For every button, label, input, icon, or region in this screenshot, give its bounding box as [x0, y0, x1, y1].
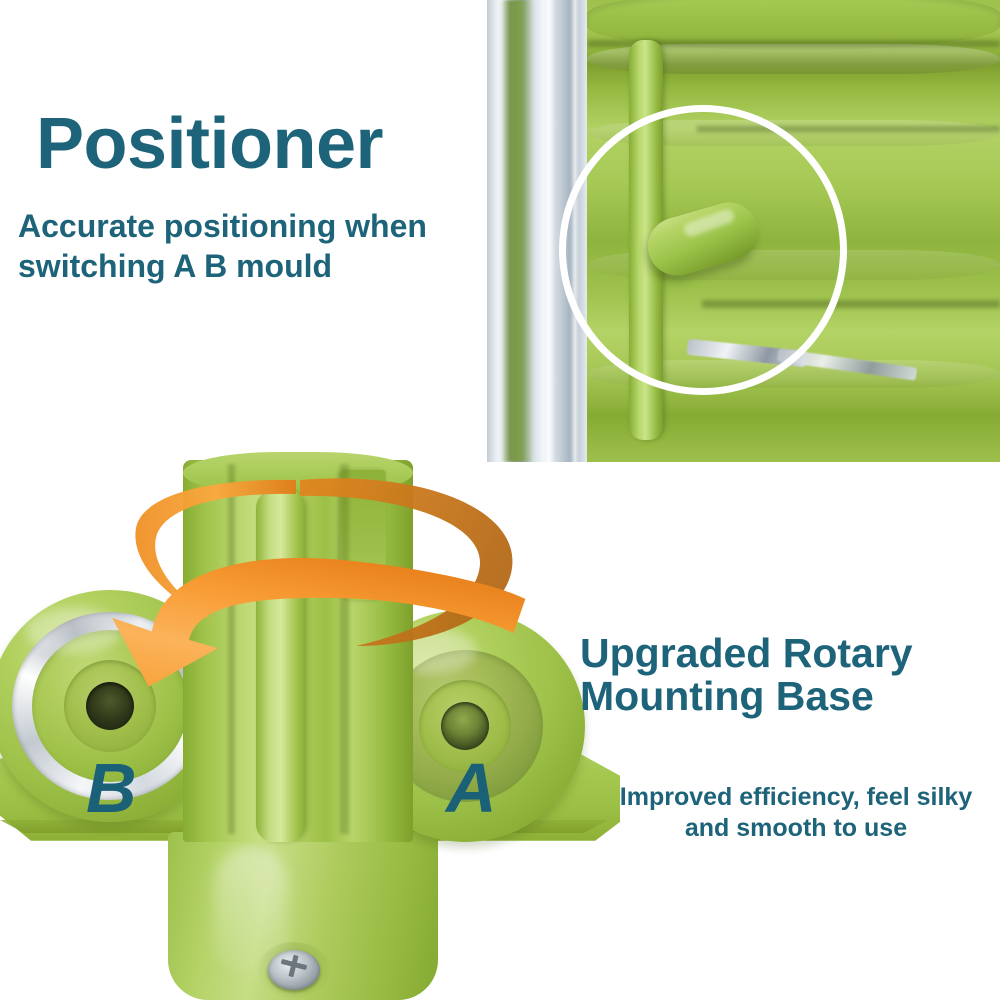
positioner-closeup-photo [487, 0, 1000, 462]
mould-label-b: B [86, 753, 137, 823]
circle-highlight-icon [559, 105, 847, 395]
photo-tube-highlight-1 [543, 0, 555, 462]
photo-tube-green-reflection [500, 0, 534, 462]
subtitle-positioner: Accurate positioning when switching A B … [18, 206, 488, 287]
subtitle-rotary-base: Improved efficiency, feel silky and smoo… [596, 782, 996, 843]
page-title-rotary-base: Upgraded Rotary Mounting Base [580, 632, 1000, 719]
mould-label-a: A [446, 753, 497, 823]
rotary-base-illustration: B A [0, 450, 620, 1000]
infographic-canvas: Positioner Accurate positioning when swi… [0, 0, 1000, 1000]
page-title-positioner: Positioner [36, 108, 383, 180]
